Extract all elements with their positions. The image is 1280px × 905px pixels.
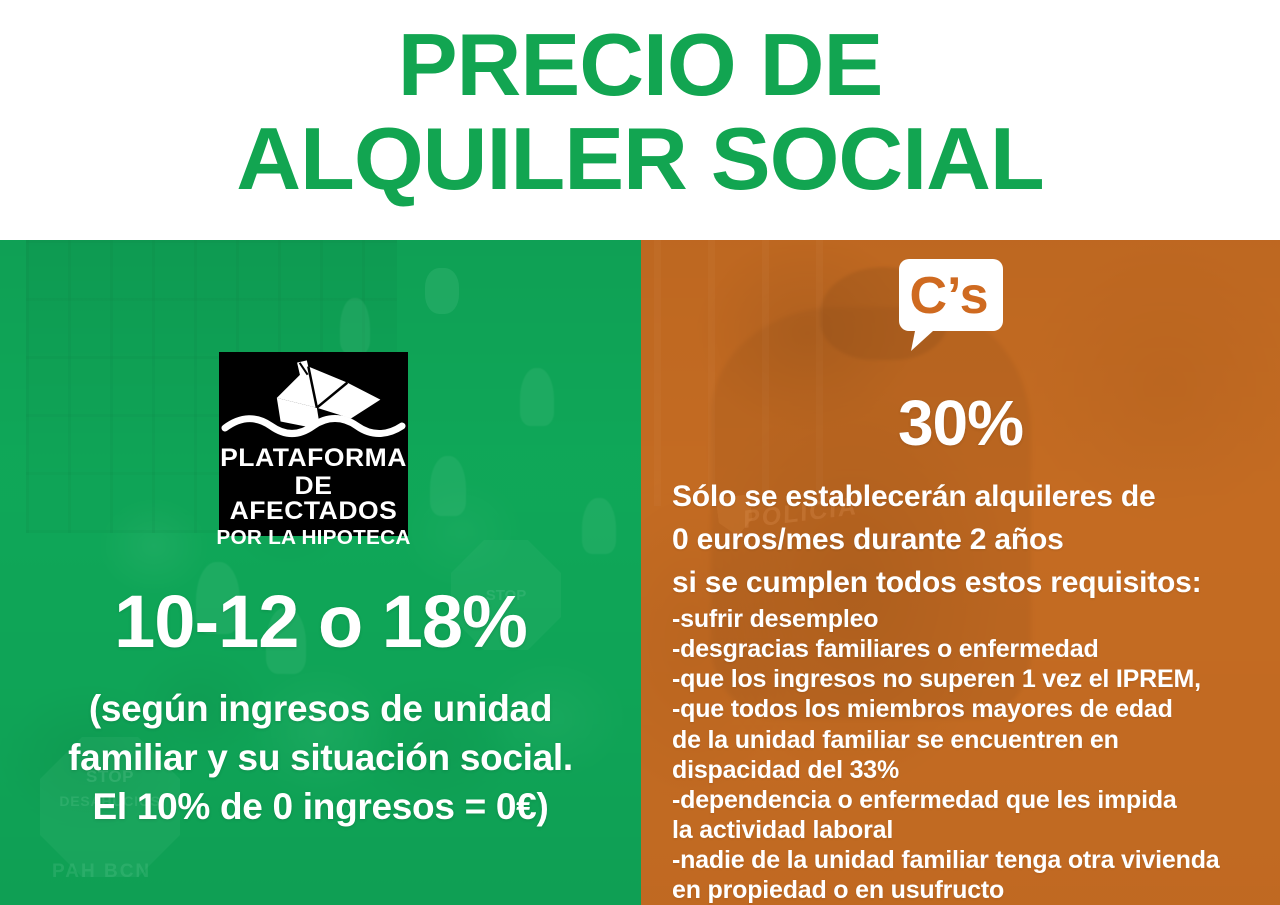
pah-logo-line-1: PLATAFORMA — [213, 446, 413, 471]
pah-percentage-figure: 10-12 o 18% — [0, 585, 641, 659]
title-line-1: PRECIO DE — [0, 22, 1280, 108]
ciudadanos-percentage-figure: 30% — [641, 391, 1280, 455]
pah-note-line-3: El 10% de 0 ingresos = 0€) — [0, 783, 641, 832]
left-panel-content: 10-12 o 18% (según ingresos de unidad fa… — [0, 240, 641, 905]
ciudadanos-intro: Sólo se establecerán alquileres de 0 eur… — [672, 476, 1272, 605]
requirement-item: la actividad laboral — [672, 815, 1278, 845]
panels-container: STOP STOP DESAHUCIOS PAH BCN 10-12 o 18%… — [0, 240, 1280, 905]
infographic-poster: PRECIO DE ALQUILER SOCIAL STOP STOP DESA… — [0, 0, 1280, 905]
pah-logo-line-2: DE AFECTADOS — [213, 474, 413, 524]
pah-house-icon — [219, 358, 408, 446]
requirement-item: en propiedad o en usufructo — [672, 875, 1278, 905]
requirement-item: -nadie de la unidad familiar tenga otra … — [672, 845, 1278, 875]
svg-text:C’s: C’s — [910, 267, 989, 325]
intro-line-2: 0 euros/mes durante 2 años — [672, 519, 1272, 562]
panel-ciudadanos-right: POLICIA C’s 30% Sólo se establecerán alq… — [641, 240, 1280, 905]
ciudadanos-logo: C’s — [899, 259, 1003, 351]
right-panel-content: C’s 30% Sólo se establecerán alquileres … — [641, 240, 1280, 905]
intro-line-1: Sólo se establecerán alquileres de — [672, 476, 1272, 519]
page-title: PRECIO DE ALQUILER SOCIAL — [0, 22, 1280, 202]
requirement-item: -desgracias familiares o enfermedad — [672, 634, 1278, 664]
requirement-item: -que los ingresos no superen 1 vez el IP… — [672, 664, 1278, 694]
requirement-item: -que todos los miembros mayores de edad — [672, 694, 1278, 724]
pah-logo-line-3: POR LA HIPOTECA — [215, 528, 412, 548]
requirement-item: -dependencia o enfermedad que les impida — [672, 785, 1278, 815]
requirement-item: -sufrir desempleo — [672, 604, 1278, 634]
intro-line-3: si se cumplen todos estos requisitos: — [672, 562, 1272, 605]
requirement-item: de la unidad familiar se encuentren en — [672, 725, 1278, 755]
pah-note: (según ingresos de unidad familiar y su … — [0, 685, 641, 831]
title-line-2: ALQUILER SOCIAL — [0, 116, 1280, 202]
pah-logo: PLATAFORMA DE AFECTADOS POR LA HIPOTECA — [219, 352, 408, 536]
pah-note-line-2: familiar y su situación social. — [0, 734, 641, 783]
requirement-item: dispacidad del 33% — [672, 755, 1278, 785]
panel-pah-left: STOP STOP DESAHUCIOS PAH BCN 10-12 o 18%… — [0, 240, 641, 905]
requirements-list: -sufrir desempleo -desgracias familiares… — [672, 604, 1278, 905]
pah-note-line-1: (según ingresos de unidad — [0, 685, 641, 734]
